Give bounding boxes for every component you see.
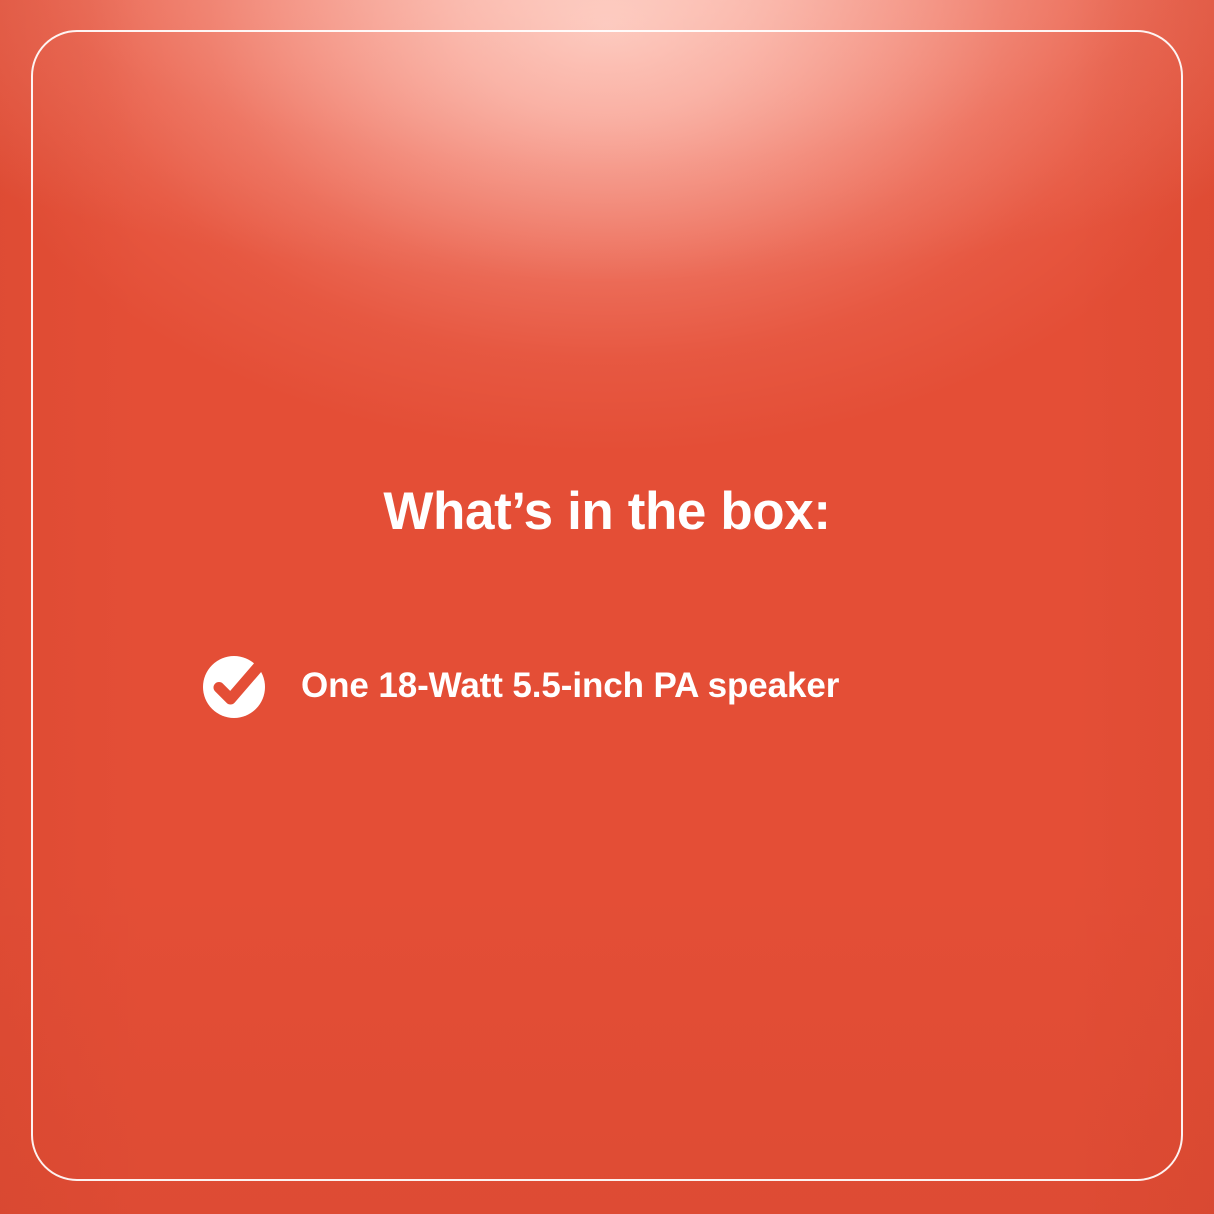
check-circle-icon (203, 654, 267, 718)
card-content: What’s in the box: One 18-Watt 5.5-inch … (0, 0, 1214, 1214)
list-item: One 18-Watt 5.5-inch PA speaker (0, 650, 1214, 722)
page-title: What’s in the box: (0, 481, 1214, 543)
box-contents-list: One 18-Watt 5.5-inch PA speaker (0, 650, 1214, 722)
list-item-label: One 18-Watt 5.5-inch PA speaker (301, 664, 839, 708)
product-info-card: What’s in the box: One 18-Watt 5.5-inch … (0, 0, 1214, 1214)
